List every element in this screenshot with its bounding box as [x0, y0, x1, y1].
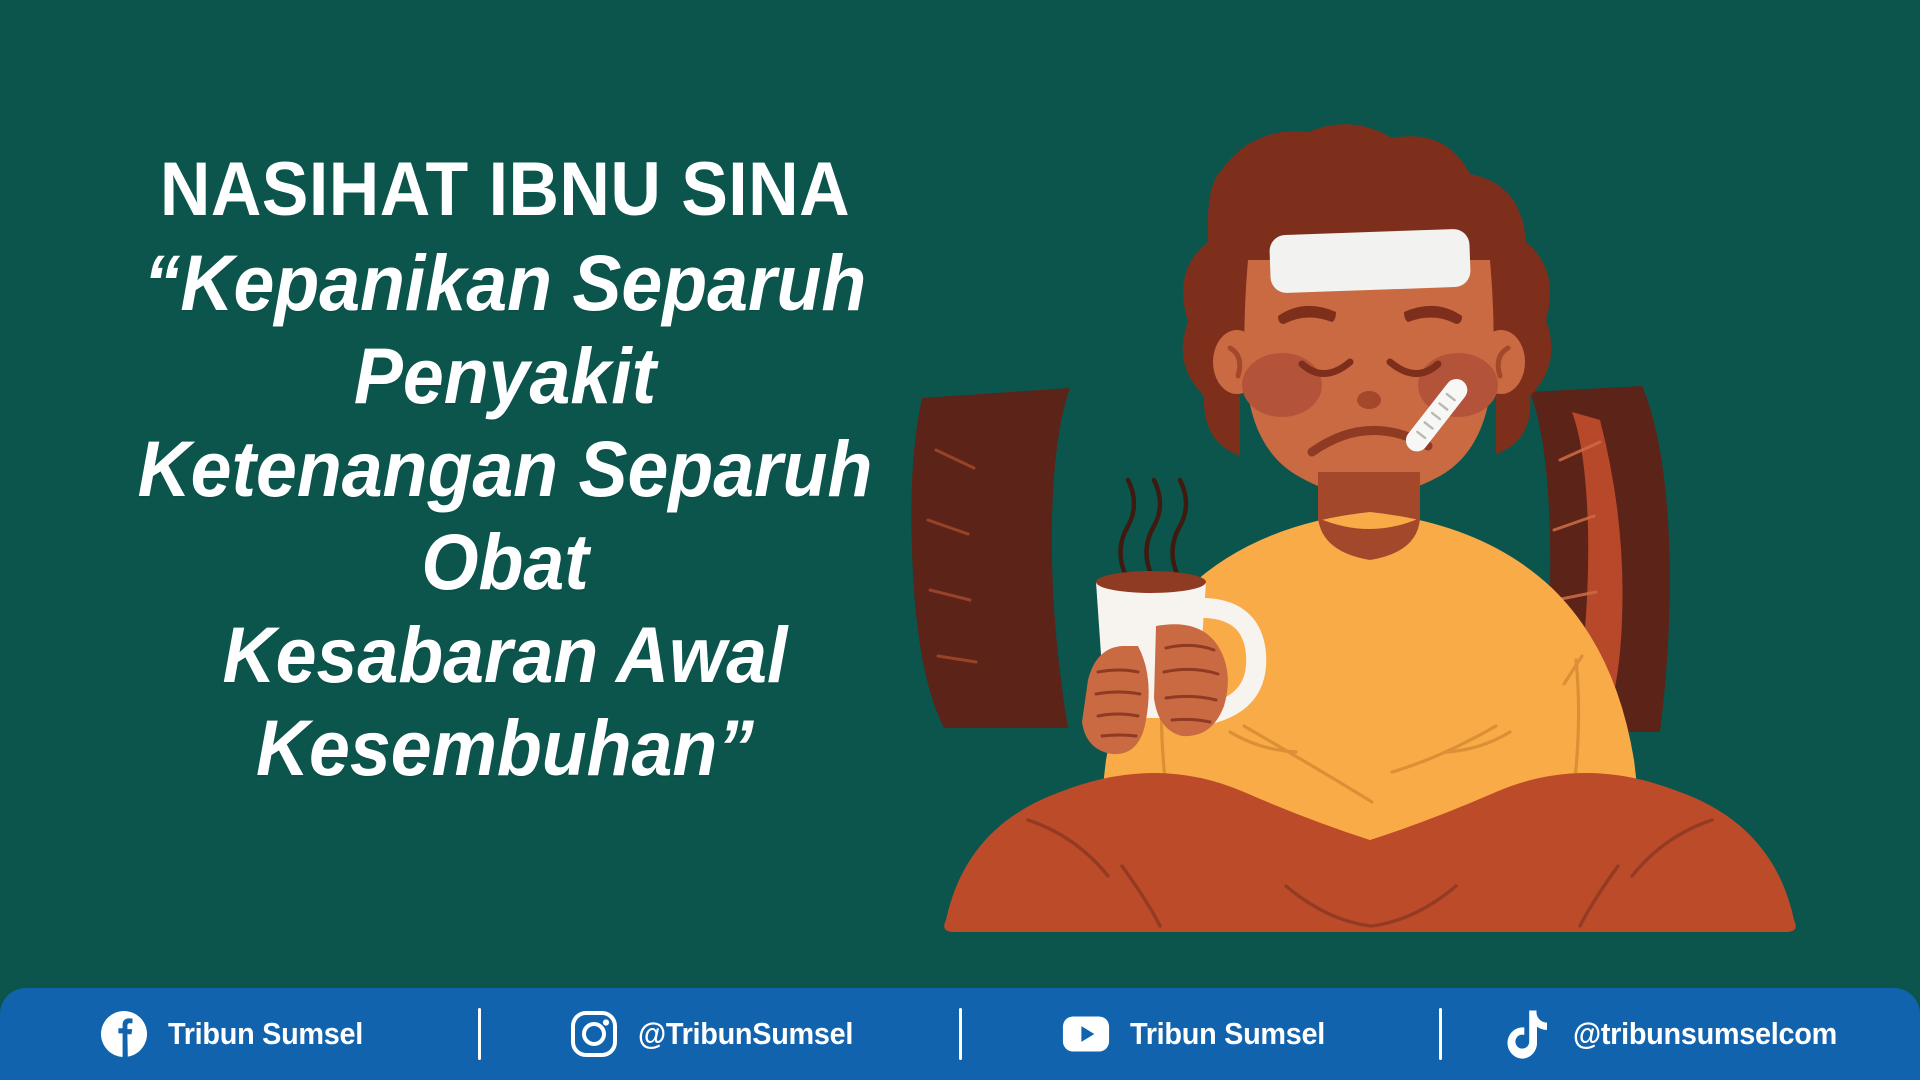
- instagram-icon: [570, 1010, 618, 1058]
- quote-line-1: “Kepanikan Separuh: [35, 236, 974, 329]
- nose: [1357, 391, 1381, 409]
- youtube-icon: [1062, 1010, 1110, 1058]
- illustration-sick-person: [900, 120, 1920, 950]
- social-item-tiktok[interactable]: @tribunsumselcom: [1442, 988, 1920, 1080]
- social-label-facebook: Tribun Sumsel: [168, 1016, 363, 1052]
- steaming-mug: [1082, 480, 1256, 754]
- quote-text-block: NASIHAT IBNU SINA “Kepanikan Separuh Pen…: [0, 150, 1010, 794]
- forehead-compress: [1269, 229, 1471, 294]
- social-label-tiktok: @tribunsumselcom: [1573, 1016, 1837, 1052]
- social-item-youtube[interactable]: Tribun Sumsel: [962, 988, 1440, 1080]
- quote-line-3: Ketenangan Separuh: [35, 422, 974, 515]
- social-item-facebook[interactable]: Tribun Sumsel: [0, 988, 478, 1080]
- page-title: NASIHAT IBNU SINA: [40, 150, 969, 230]
- facebook-icon: [100, 1010, 148, 1058]
- tiktok-icon: [1505, 1010, 1553, 1058]
- quote-line-2: Penyakit: [35, 329, 974, 422]
- social-label-instagram: @TribunSumsel: [638, 1016, 853, 1052]
- social-label-youtube: Tribun Sumsel: [1130, 1016, 1325, 1052]
- quote-line-4: Obat: [35, 515, 974, 608]
- social-item-instagram[interactable]: @TribunSumsel: [481, 988, 959, 1080]
- quote-line-5: Kesabaran Awal: [35, 608, 974, 701]
- social-footer-bar: Tribun Sumsel @TribunSumsel Tribun: [0, 988, 1920, 1080]
- poster-canvas: NASIHAT IBNU SINA “Kepanikan Separuh Pen…: [0, 0, 1920, 1080]
- quote-line-6: Kesembuhan”: [35, 701, 974, 794]
